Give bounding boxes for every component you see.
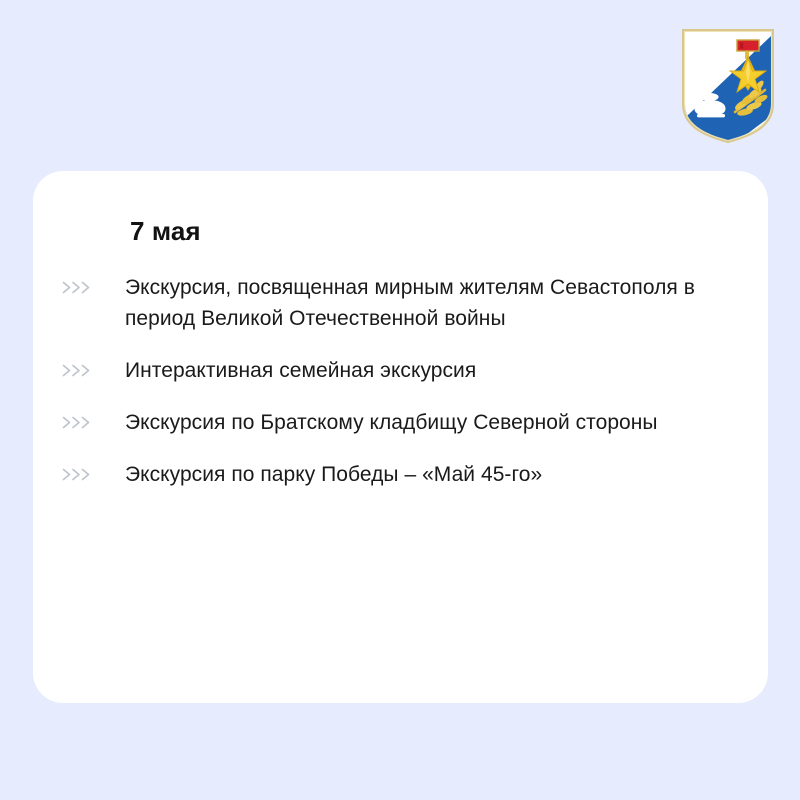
list-item-label: Экскурсия по Братскому кладбищу Северной… [125, 407, 658, 438]
events-list: Экскурсия, посвященная мирным жителям Се… [62, 272, 744, 490]
schedule-card: 7 мая Экскурсия, посвященная мирным жите… [33, 171, 768, 703]
triple-chevron-right-icon [62, 416, 98, 429]
coat-of-arms [681, 28, 775, 144]
list-item-label: Интерактивная семейная экскурсия [125, 355, 476, 386]
card-content: 7 мая Экскурсия, посвященная мирным жите… [62, 216, 744, 490]
list-item-label: Экскурсия, посвященная мирным жителям Се… [125, 272, 705, 334]
list-item[interactable]: Экскурсия, посвященная мирным жителям Се… [62, 272, 744, 334]
page-title: 7 мая [130, 216, 744, 247]
list-item[interactable]: Экскурсия по Братскому кладбищу Северной… [62, 407, 744, 438]
list-item[interactable]: Интерактивная семейная экскурсия [62, 355, 744, 386]
list-item-label: Экскурсия по парку Победы – «Май 45-го» [125, 459, 542, 490]
triple-chevron-right-icon [62, 281, 98, 294]
triple-chevron-right-icon [62, 468, 98, 481]
list-item[interactable]: Экскурсия по парку Победы – «Май 45-го» [62, 459, 744, 490]
triple-chevron-right-icon [62, 364, 98, 377]
